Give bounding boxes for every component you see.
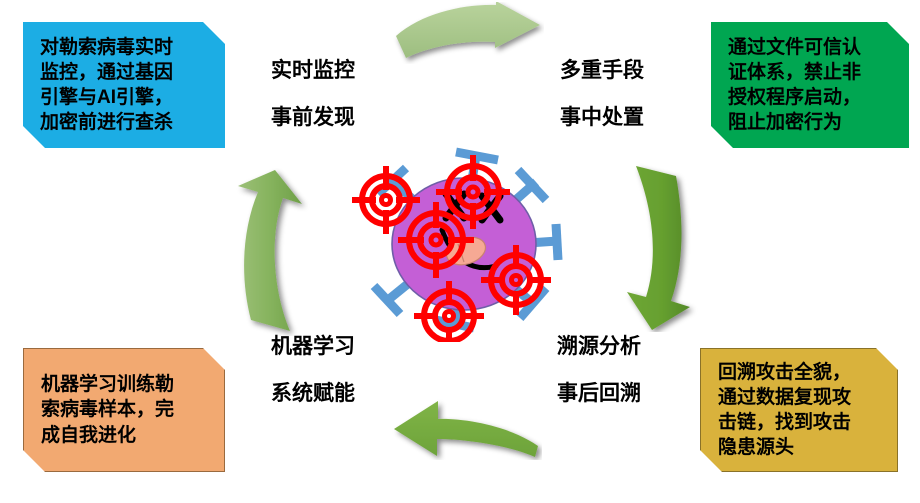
callout-learning-text: 机器学习训练勒 索病毒样本，完 成自我进化: [41, 372, 174, 447]
diagram-canvas: 对勒索病毒实时 监控，通过基因 引擎与AI引擎， 加密前进行查杀 通过文件可信认…: [0, 0, 920, 503]
cycle-arrow-bottom-left-icon: [390, 398, 542, 460]
callout-block-text: 通过文件可信认 证体系，禁止非 授权程序启动， 阻止加密行为: [728, 35, 861, 135]
stage-pre-line2: 事前发现: [271, 107, 355, 128]
callout-attack-traceback: 回溯攻击全貌， 通过数据复现攻 击链，找到攻击 隐患源头: [700, 348, 898, 472]
stage-ml-line1: 机器学习: [271, 336, 355, 357]
cycle-arrow-right-down-icon: [614, 160, 702, 332]
stage-post-line2: 事后回溯: [557, 383, 641, 404]
callout-monitor-text: 对勒索病毒实时 监控，通过基因 引擎与AI引擎， 加密前进行查杀: [40, 35, 173, 135]
stage-mid-line2: 事中处置: [560, 107, 644, 128]
stage-ml-line2: 系统赋能: [271, 383, 355, 404]
stage-label-pre-incident: 实时监控 事前发现: [271, 60, 355, 128]
callout-realtime-monitoring: 对勒索病毒实时 监控，通过基因 引擎与AI引擎， 加密前进行查杀: [23, 22, 225, 148]
callout-machine-learning: 机器学习训练勒 索病毒样本，完 成自我进化: [23, 348, 225, 472]
stage-label-post-incident: 溯源分析 事后回溯: [557, 336, 641, 404]
stage-label-machine-learning: 机器学习 系统赋能: [271, 336, 355, 404]
cycle-arrow-left-up-icon: [226, 168, 314, 336]
stage-pre-line1: 实时监控: [271, 60, 355, 81]
ransomware-virus-icon: [350, 138, 574, 342]
stage-mid-line1: 多重手段: [560, 60, 644, 81]
callout-trusted-file-auth: 通过文件可信认 证体系，禁止非 授权程序启动， 阻止加密行为: [711, 22, 909, 148]
cycle-arrow-top-right-icon: [392, 2, 544, 64]
callout-trace-text: 回溯攻击全貌， 通过数据复现攻 击链，找到攻击 隐患源头: [718, 360, 851, 460]
stage-label-during-incident: 多重手段 事中处置: [560, 60, 644, 128]
